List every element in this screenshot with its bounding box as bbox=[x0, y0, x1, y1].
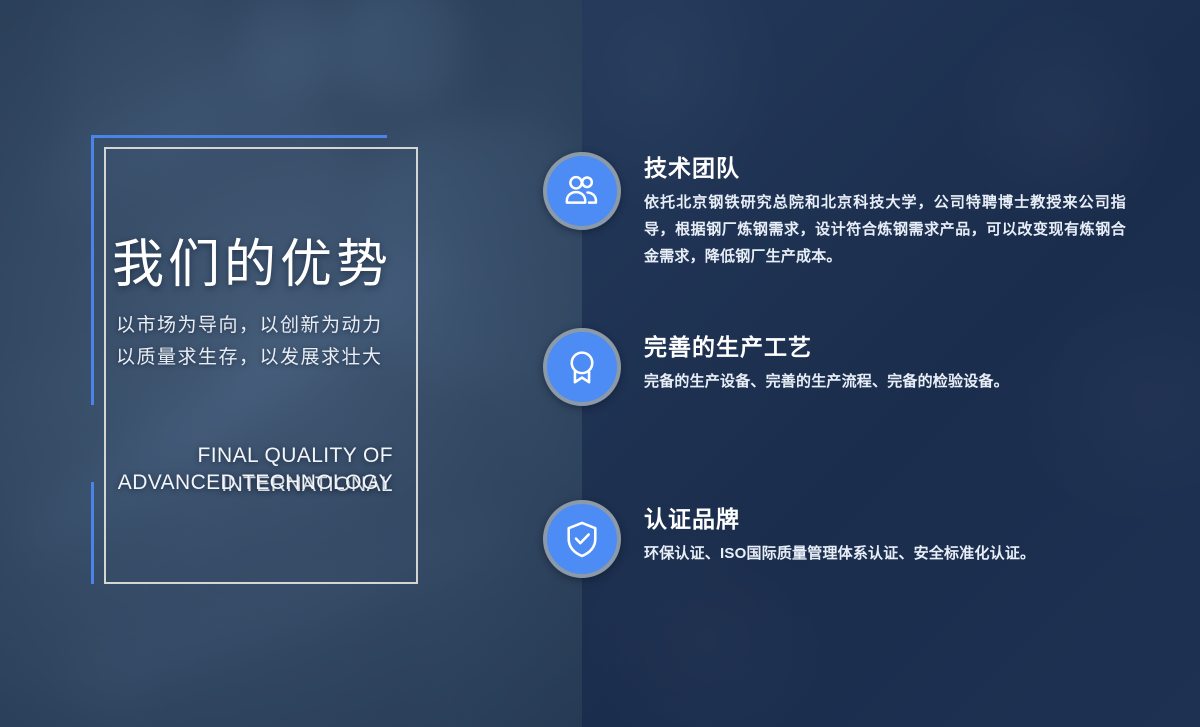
shield-check-icon bbox=[543, 500, 621, 578]
right-features-panel: 技术团队 依托北京钢铁研究总院和北京科技大学，公司特聘博士教授来公司指导，根据钢… bbox=[582, 0, 1200, 727]
feature-title: 完善的生产工艺 bbox=[644, 328, 812, 362]
left-hero-panel: 我们的优势 以市场为导向，以创新为动力 以质量求生存，以发展求壮大 FINAL … bbox=[0, 0, 582, 727]
decorative-frame-blue-left-upper bbox=[91, 135, 94, 405]
page-title: 我们的优势 bbox=[112, 222, 392, 297]
right-panel-texture bbox=[582, 0, 1200, 727]
english-tagline-line-2: ADVANCED TECHNOLOGY bbox=[28, 468, 393, 497]
people-group-icon bbox=[543, 152, 621, 230]
feature-title: 认证品牌 bbox=[644, 500, 740, 534]
feature-description: 环保认证、ISO国际质量管理体系认证、安全标准化认证。 bbox=[644, 540, 1126, 567]
slogan-line-2: 以质量求生存，以发展求壮大 bbox=[116, 342, 383, 369]
award-medal-icon bbox=[543, 328, 621, 406]
feature-description: 依托北京钢铁研究总院和北京科技大学，公司特聘博士教授来公司指导，根据钢厂炼钢需求… bbox=[644, 189, 1126, 270]
decorative-frame-blue-top bbox=[91, 135, 387, 138]
slogan-line-1: 以市场为导向，以创新为动力 bbox=[116, 310, 383, 337]
feature-title: 技术团队 bbox=[644, 149, 740, 183]
slide-canvas: 我们的优势 以市场为导向，以创新为动力 以质量求生存，以发展求壮大 FINAL … bbox=[0, 0, 1200, 727]
feature-description: 完备的生产设备、完善的生产流程、完备的检验设备。 bbox=[644, 368, 1126, 395]
